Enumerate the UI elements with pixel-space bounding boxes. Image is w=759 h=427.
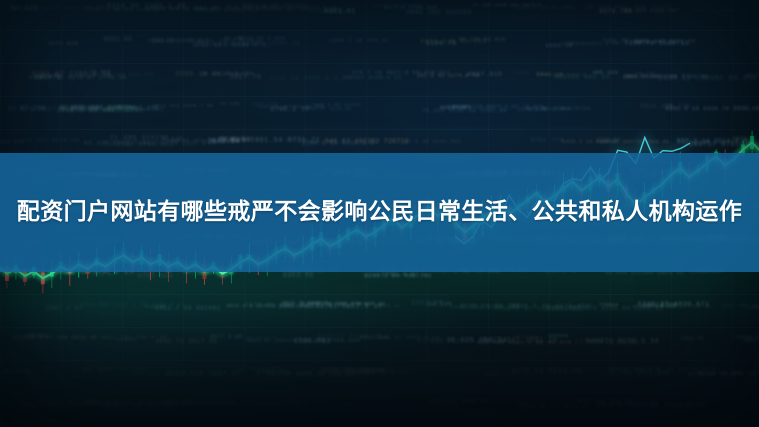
ticker-number: 3883.153 943203 (406, 9, 473, 16)
title-banner: 配资门户网站有哪些戒严不会影响公民日常生活、公共和私人机构运作 (0, 153, 759, 272)
ticker-number: 189733 194.948 8294.072 (80, 73, 154, 78)
ticker-number: 396407 8138.9 21 (343, 75, 402, 81)
ticker-number: 3820.683 4717.25 172924 (17, 401, 101, 407)
ticker-number: 1153.552 950185 (536, 73, 587, 78)
ticker-number: 855.837 (81, 367, 110, 374)
ticker-number: 54.54% (11, 5, 38, 12)
ticker-number: 8491.074 776.30 (577, 399, 631, 405)
ticker-number: 2051.65 1124.2 2 4267.50 (164, 369, 260, 376)
ticker-number: 348469 (152, 38, 180, 46)
screenshot-root: 7821.03 13.80%2467.06080.39% 5617.7 4492… (0, 0, 759, 427)
ticker-number: 779777 (205, 400, 228, 407)
ticker-number: 405.323 (593, 70, 619, 76)
ticker-number: 4952.63 4663.6 55 (561, 42, 620, 47)
banner-title-text: 配资门户网站有哪些戒严不会影响公民日常生活、公共和私人机构运作 (10, 194, 749, 231)
ticker-number: 3513.84 7964.5 38 (187, 37, 254, 44)
ticker-number: 2433.12 790682 69.45% (658, 74, 756, 82)
ticker-number: 64088 31.79% 362.5 90 (520, 405, 589, 410)
ticker-number: 8317.48 (5, 369, 31, 375)
ticker-number: 6456.547 3791.77 (635, 39, 695, 45)
ticker-number: 7232.58 1995.6 3 (269, 75, 338, 82)
ticker-number: 43.50% (85, 5, 106, 10)
ticker-number: 3047.55 2.86% (356, 368, 415, 375)
ticker-number: 293882 834.82 (424, 402, 464, 406)
ticker-number: 26.36% 1133.02 (113, 8, 160, 13)
ticker-number: 43.79% 8541.838 (608, 370, 670, 377)
ticker-number: 4601.61 (324, 8, 356, 15)
ticker-number: 4379.754 (599, 8, 632, 15)
ticker-number: 3358.3 28 355.01 (329, 38, 389, 44)
ticker-number: 1678.18 5533.50 (511, 368, 581, 376)
ticker-number: 251.5 43 2274.0 70 (417, 74, 480, 79)
ticker-number: 56.27% 93.51% (459, 36, 506, 42)
ticker-number: 6286.2 93 92.88% (516, 5, 574, 11)
ticker-number: 605.83 34.38% (367, 405, 425, 412)
ticker-number: 3067.79 (230, 74, 262, 81)
ticker-number: 8322.60 (104, 36, 132, 43)
ticker-number: 96048 70.09% (698, 371, 741, 377)
ticker-number: 5349.50 (340, 403, 366, 409)
ticker-number: 4673.639 (48, 41, 79, 47)
ticker-number: 6966.8 8 (284, 399, 318, 406)
ticker-number: 5763.11 8838.10 (694, 9, 745, 14)
ticker-number: 60.78% (636, 71, 655, 76)
ticker-number: 383.79 (285, 7, 304, 12)
